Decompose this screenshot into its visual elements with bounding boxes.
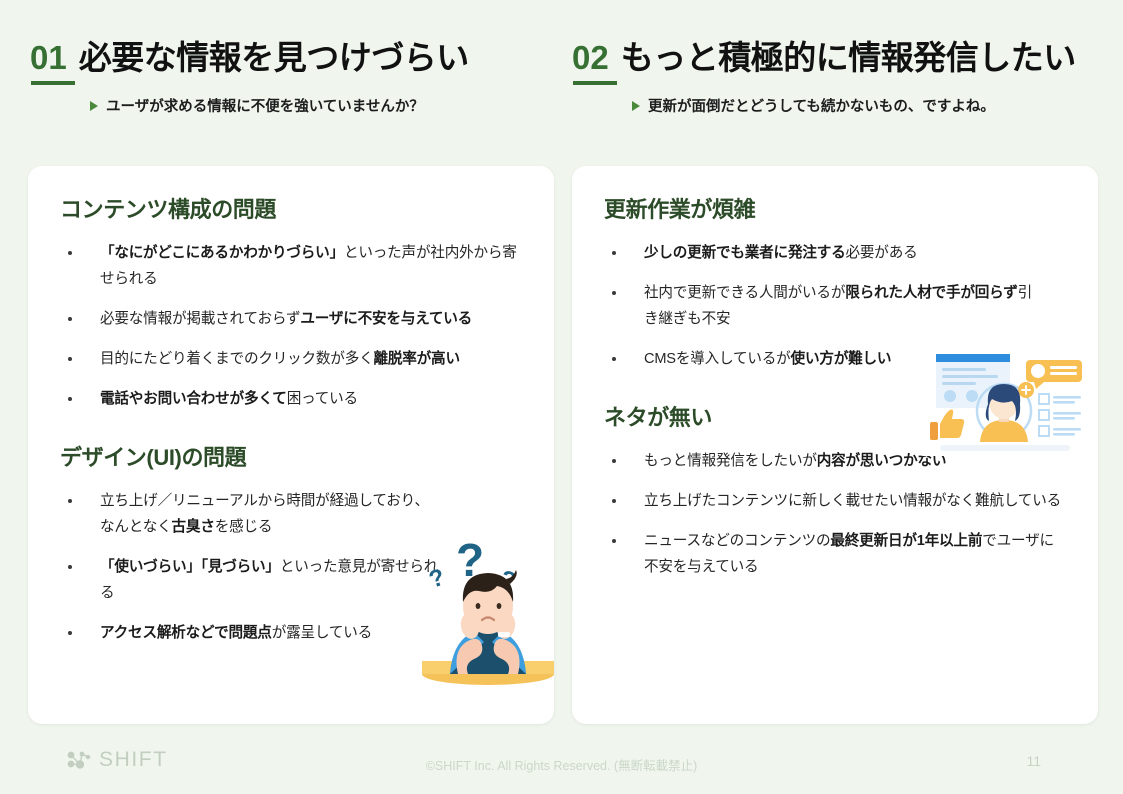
- bullet-item: 目的にたどり着くまでのクリック数が多く離脱率が高い: [60, 346, 524, 372]
- bullet-item: 必要な情報が掲載されておらずユーザに不安を与えている: [60, 306, 524, 332]
- bullet-emphasis: アクセス解析などで問題点: [100, 625, 272, 641]
- bullet-text: 困っている: [287, 391, 358, 407]
- triangle-marker-icon: [90, 101, 98, 111]
- slide: 01 必要な情報を見つけづらい ユーザが求める情報に不便を強いていませんか？ 0…: [0, 0, 1123, 794]
- bullet-item: 「使いづらい」「見づらい」といった意見が寄せられる: [60, 554, 440, 606]
- bullet-item: ニュースなどのコンテンツの最終更新日が1年以上前でユーザに不安を与えている: [604, 528, 1068, 580]
- bullet-text: が露呈している: [272, 625, 372, 641]
- bullet-emphasis: 「使いづらい」「見づらい」: [100, 559, 280, 575]
- bullet-item: 「なにがどこにあるかわかりづらい」といった声が社内外から寄せられる: [60, 240, 524, 292]
- header-number-underline: [31, 81, 75, 85]
- bullet-list: 「なにがどこにあるかわかりづらい」といった声が社内外から寄せられる必要な情報が掲…: [60, 240, 524, 412]
- right-card-content: 更新作業が煩雑 少しの更新でも業者に発注する必要がある社内で更新できる人間がいる…: [572, 166, 1098, 724]
- bullet-text: 必要がある: [846, 245, 918, 261]
- bullet-text: 立ち上げたコンテンツに新しく載せたい情報がなく難航している: [644, 493, 1061, 509]
- section-update-complexity: 更新作業が煩雑 少しの更新でも業者に発注する必要がある社内で更新できる人間がいる…: [604, 192, 1068, 372]
- bullet-text: 目的にたどり着くまでのクリック数が多く: [100, 351, 373, 367]
- bullet-emphasis: 「なにがどこにあるかわかりづらい」: [100, 245, 344, 261]
- bullet-item: アクセス解析などで問題点が露呈している: [60, 620, 440, 646]
- section-title: 更新作業が煩雑: [604, 192, 1068, 224]
- right-card: 更新作業が煩雑 少しの更新でも業者に発注する必要がある社内で更新できる人間がいる…: [572, 166, 1098, 724]
- header-row: 01 必要な情報を見つけづらい: [30, 38, 570, 78]
- left-card-content: コンテンツ構成の問題 「なにがどこにあるかわかりづらい」といった声が社内外から寄…: [28, 166, 554, 724]
- header-subtitle: 更新が面倒だとどうしても続かないもの、ですよね。: [572, 95, 1112, 116]
- bullet-text: もっと情報発信をしたいが: [644, 453, 817, 469]
- bullet-emphasis: 少しの更新でも業者に発注する: [644, 245, 846, 261]
- page-number: 11: [1026, 753, 1041, 769]
- bullet-emphasis: 限られた人材で手が回らず: [845, 285, 1017, 301]
- confused-person-illustration: ? ? ?: [414, 528, 562, 688]
- header-row: 02 もっと積極的に情報発信したい: [572, 38, 1112, 78]
- section-title: デザイン(UI)の問題: [60, 440, 524, 472]
- header-subtitle-text: 更新が面倒だとどうしても続かないもの、ですよね。: [648, 95, 995, 116]
- header-column-01: 01 必要な情報を見つけづらい ユーザが求める情報に不便を強いていませんか？: [30, 38, 570, 116]
- triangle-marker-icon: [632, 101, 640, 111]
- header-number: 02: [572, 38, 621, 78]
- section-title: コンテンツ構成の問題: [60, 192, 524, 224]
- cms-publishing-illustration: [922, 346, 1088, 456]
- bullet-text: を感じる: [215, 519, 273, 535]
- bullet-emphasis: 電話やお問い合わせが多くて: [100, 391, 287, 407]
- header-title: もっと積極的に情報発信したい: [621, 38, 1112, 78]
- bullet-text: 必要な情報が掲載されておらず: [100, 311, 300, 327]
- bullet-text: ニュースなどのコンテンツの: [644, 533, 830, 549]
- bullet-item: 少しの更新でも業者に発注する必要がある: [604, 240, 1044, 266]
- bullet-list: もっと情報発信をしたいが内容が思いつかない立ち上げたコンテンツに新しく載せたい情…: [604, 448, 1068, 580]
- header-subtitle-text: ユーザが求める情報に不便を強いていませんか？: [106, 95, 424, 116]
- header-title: 必要な情報を見つけづらい: [79, 38, 570, 78]
- bullet-emphasis: 使い方が難しい: [791, 351, 892, 367]
- header-number-text: 01: [30, 39, 67, 76]
- section-content-structure: コンテンツ構成の問題 「なにがどこにあるかわかりづらい」といった声が社内外から寄…: [60, 192, 524, 412]
- header-number-underline: [573, 81, 617, 85]
- svg-text:?: ?: [426, 564, 448, 594]
- bullet-text: CMSを導入しているが: [644, 351, 791, 367]
- header-number: 01: [30, 38, 79, 78]
- bullet-emphasis: 古臭さ: [172, 519, 215, 535]
- bullet-emphasis: 離脱率が高い: [373, 351, 459, 367]
- bullet-emphasis: 最終更新日が1年以上前: [830, 533, 982, 549]
- header-subtitle: ユーザが求める情報に不便を強いていませんか？: [30, 95, 570, 116]
- bullet-item: 立ち上げ／リニューアルから時間が経過しており、なんとなく古臭さを感じる: [60, 488, 440, 540]
- left-card: コンテンツ構成の問題 「なにがどこにあるかわかりづらい」といった声が社内外から寄…: [28, 166, 554, 724]
- bullet-item: 立ち上げたコンテンツに新しく載せたい情報がなく難航している: [604, 488, 1068, 514]
- header-column-02: 02 もっと積極的に情報発信したい 更新が面倒だとどうしても続かないもの、ですよ…: [572, 38, 1112, 116]
- bullet-item: 電話やお問い合わせが多くて困っている: [60, 386, 524, 412]
- bullet-emphasis: ユーザに不安を与えている: [300, 311, 472, 327]
- header-number-text: 02: [572, 39, 609, 76]
- footer: SHIFT ©SHIFT Inc. All Rights Reserved. (…: [0, 738, 1123, 794]
- bullet-item: 社内で更新できる人間がいるが限られた人材で手が回らず引き継ぎも不安: [604, 280, 1044, 332]
- bullet-text: 社内で更新できる人間がいるが: [644, 285, 845, 301]
- copyright-text: ©SHIFT Inc. All Rights Reserved. (無断転載禁止…: [0, 755, 1123, 774]
